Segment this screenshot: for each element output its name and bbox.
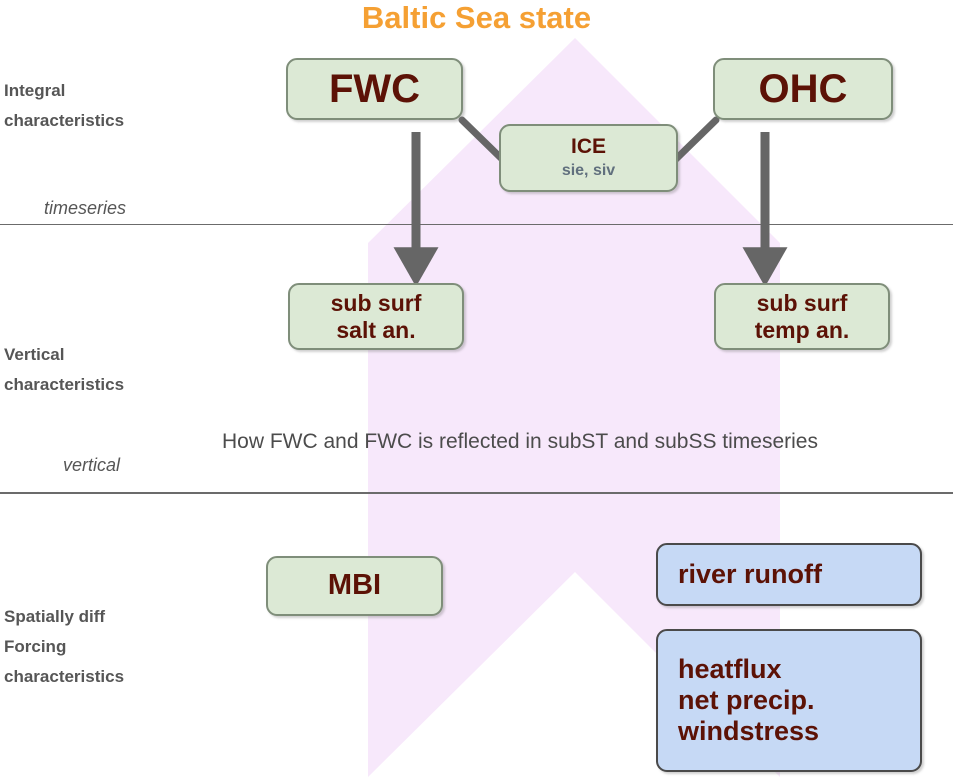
node-mbi-label: MBI: [328, 569, 381, 602]
row-label-forcing: Spatially diff Forcing characteristics: [4, 602, 124, 692]
row-label-vertical: Vertical characteristics: [4, 340, 124, 400]
divider-timeseries: [0, 224, 953, 225]
node-forcing-fields[interactable]: heatflux net precip. windstress: [656, 629, 922, 772]
node-sub-surf-temp[interactable]: sub surf temp an.: [714, 283, 890, 350]
node-fwc[interactable]: FWC: [286, 58, 463, 120]
node-sub-surf-salt[interactable]: sub surf salt an.: [288, 283, 464, 350]
node-sub-surf-salt-label: sub surf salt an.: [331, 290, 422, 343]
caption-text: How FWC and FWC is reflected in subST an…: [222, 430, 818, 454]
node-ice[interactable]: ICE sie, siv: [499, 124, 678, 192]
node-ice-sublabel: sie, siv: [562, 161, 615, 180]
axis-label-timeseries: timeseries: [44, 198, 126, 219]
divider-vertical: [0, 492, 953, 494]
diagram-canvas: Baltic Sea state Integral characteristic…: [0, 0, 953, 777]
node-ohc[interactable]: OHC: [713, 58, 893, 120]
page-title: Baltic Sea state: [0, 0, 953, 36]
node-ice-label: ICE: [571, 135, 606, 159]
node-sub-surf-temp-label: sub surf temp an.: [755, 290, 850, 343]
node-forcing-fields-label: heatflux net precip. windstress: [678, 654, 819, 747]
node-river-runoff[interactable]: river runoff: [656, 543, 922, 606]
node-fwc-label: FWC: [329, 66, 420, 112]
node-mbi[interactable]: MBI: [266, 556, 443, 616]
axis-label-vertical: vertical: [63, 455, 120, 476]
node-river-runoff-label: river runoff: [678, 559, 822, 590]
node-ohc-label: OHC: [759, 66, 848, 112]
row-label-integral: Integral characteristics: [4, 76, 124, 136]
